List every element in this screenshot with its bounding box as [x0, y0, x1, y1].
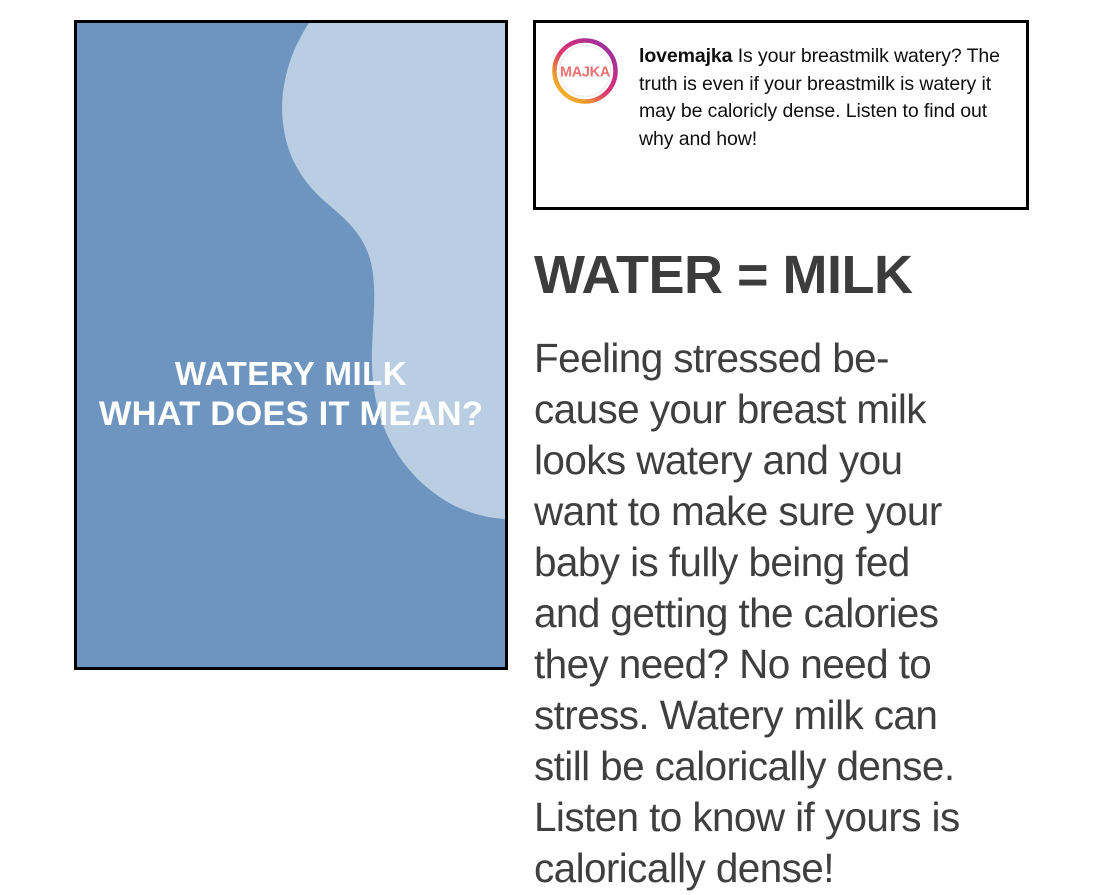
- body-line-10: Listen to know if yours is: [534, 792, 1054, 843]
- thumbnail-caption: WATERY MILK WHAT DOES IT MEAN?: [77, 355, 505, 435]
- body-line-11: calorically dense!: [534, 843, 1054, 894]
- page-title: WATER = MILK: [534, 248, 913, 302]
- avatar-ring-icon: MAJKA: [551, 37, 619, 105]
- body-line-5: baby is fully being fed: [534, 537, 1054, 588]
- comment-text: lovemajka Is your breastmilk watery? The…: [639, 43, 1016, 154]
- thumbnail-caption-line-1: WATERY MILK: [77, 355, 505, 394]
- video-thumbnail-card[interactable]: WATERY MILK WHAT DOES IT MEAN?: [74, 20, 508, 670]
- thumbnail-caption-line-2: WHAT DOES IT MEAN?: [77, 394, 505, 435]
- avatar-label: MAJKA: [560, 65, 611, 81]
- instagram-comment-box[interactable]: MAJKA lovemajka Is your breastmilk water…: [533, 20, 1029, 210]
- body-line-6: and getting the calories: [534, 588, 1054, 639]
- body-line-2: cause your breast milk: [534, 384, 1054, 435]
- body-line-3: looks watery and you: [534, 435, 1054, 486]
- body-paragraph: Feeling stressed be-cause your breast mi…: [534, 333, 1054, 894]
- thumbnail-artwork: [77, 23, 505, 667]
- body-line-1: Feeling stressed be-: [534, 333, 1054, 384]
- comment-username[interactable]: lovemajka: [639, 45, 732, 67]
- body-line-8: stress. Watery milk can: [534, 690, 1054, 741]
- body-line-4: want to make sure your: [534, 486, 1054, 537]
- body-line-7: they need? No need to: [534, 639, 1054, 690]
- avatar[interactable]: MAJKA: [551, 37, 619, 105]
- body-line-9: still be calorically dense.: [534, 741, 1054, 792]
